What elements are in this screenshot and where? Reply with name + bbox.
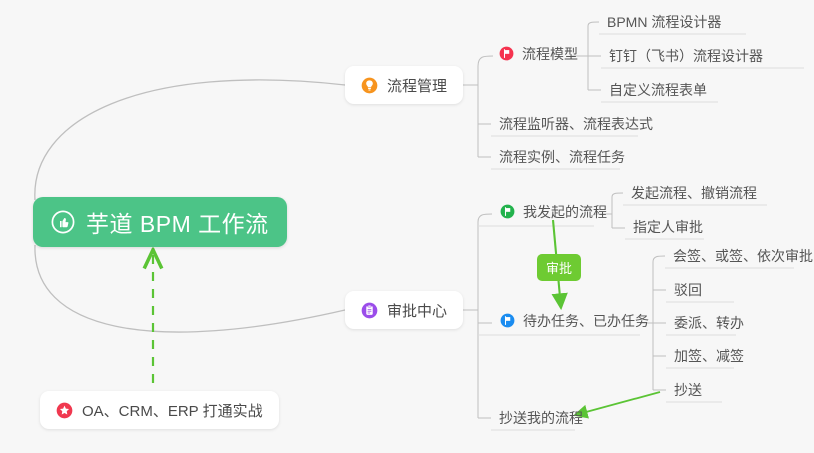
leaf-label-cc: 抄送 bbox=[674, 383, 702, 397]
leaf-node-countersign-orsign-sequential[interactable]: 会签、或签、依次审批 bbox=[665, 244, 814, 268]
leaf-label-cc-to-me-process: 抄送我的流程 bbox=[499, 411, 583, 425]
leaf-label-process-instance-task: 流程实例、流程任务 bbox=[499, 150, 625, 164]
leaf-label-countersign-orsign-sequential: 会签、或签、依次审批 bbox=[673, 249, 813, 263]
leaf-label-custom-process-form: 自定义流程表单 bbox=[609, 83, 707, 97]
leaf-node-reject[interactable]: 驳回 bbox=[666, 278, 710, 302]
flag-icon bbox=[500, 313, 515, 328]
leaf-label-assignee-approval: 指定人审批 bbox=[633, 220, 703, 234]
approval-tag-label: 审批 bbox=[546, 258, 572, 277]
leaf-node-cc[interactable]: 抄送 bbox=[666, 378, 710, 402]
integration-note-node[interactable]: OA、CRM、ERP 打通实战 bbox=[40, 391, 279, 429]
leaf-label-delegate-transfer: 委派、转办 bbox=[674, 316, 744, 330]
leaf-label-bpmn-designer: BPMN 流程设计器 bbox=[607, 15, 721, 29]
leaf-label-add-remove-sign: 加签、减签 bbox=[674, 349, 744, 363]
leaf-node-add-remove-sign[interactable]: 加签、减签 bbox=[666, 344, 752, 368]
clipboard-icon bbox=[361, 302, 378, 319]
root-node[interactable]: 芋道 BPM 工作流 bbox=[33, 197, 287, 247]
leaf-label-process-model: 流程模型 bbox=[522, 47, 578, 61]
leaf-node-delegate-transfer[interactable]: 委派、转办 bbox=[666, 311, 752, 335]
edge-model-to-bpmn bbox=[588, 22, 599, 26]
leaf-node-assignee-approval[interactable]: 指定人审批 bbox=[625, 215, 711, 239]
leaf-node-my-initiated-process[interactable]: 我发起的流程 bbox=[492, 200, 615, 224]
root-node-label: 芋道 BPM 工作流 bbox=[86, 205, 269, 239]
leaf-node-process-model[interactable]: 流程模型 bbox=[491, 42, 586, 66]
leaf-node-bpmn-designer[interactable]: BPMN 流程设计器 bbox=[599, 10, 729, 34]
leaf-label-todo-done-task: 待办任务、已办任务 bbox=[523, 314, 649, 328]
thumbs-up-icon bbox=[51, 210, 75, 234]
approval-tag[interactable]: 审批 bbox=[537, 254, 581, 281]
leaf-node-start-cancel-process[interactable]: 发起流程、撤销流程 bbox=[623, 181, 765, 205]
branch-node-approval-center[interactable]: 审批中心 bbox=[345, 291, 463, 329]
lightbulb-icon bbox=[361, 77, 378, 94]
leaf-node-cc-to-me-process[interactable]: 抄送我的流程 bbox=[491, 406, 591, 430]
leaf-node-todo-done-task[interactable]: 待办任务、已办任务 bbox=[492, 309, 657, 333]
branch-label-process-management: 流程管理 bbox=[387, 75, 447, 96]
star-icon bbox=[56, 402, 73, 419]
edge-root-to-process-management bbox=[35, 80, 345, 200]
edge-root-to-approval-center bbox=[35, 245, 345, 332]
branch-label-approval-center: 审批中心 bbox=[387, 300, 447, 321]
leaf-node-custom-process-form[interactable]: 自定义流程表单 bbox=[601, 78, 715, 102]
leaf-node-process-listener-expression[interactable]: 流程监听器、流程表达式 bbox=[491, 112, 661, 136]
edge-mi-to-start-cancel bbox=[612, 193, 623, 197]
edge-todo-to-countersign bbox=[653, 256, 665, 262]
leaf-node-dingtalk-feishu-designer[interactable]: 钉钉（飞书）流程设计器 bbox=[601, 44, 771, 68]
leaf-label-start-cancel-process: 发起流程、撤销流程 bbox=[631, 186, 757, 200]
edge-pm-spine bbox=[463, 66, 478, 157]
flag-icon bbox=[500, 204, 515, 219]
mindmap-canvas: 芋道 BPM 工作流 流程管理 审批中心 bbox=[0, 0, 814, 453]
leaf-label-reject: 驳回 bbox=[674, 283, 702, 297]
leaf-label-dingtalk-feishu-designer: 钉钉（飞书）流程设计器 bbox=[609, 49, 763, 63]
edge-ac-spine bbox=[463, 222, 478, 418]
integration-note-label: OA、CRM、ERP 打通实战 bbox=[82, 400, 263, 421]
edge-ac-to-my-initiated bbox=[478, 214, 492, 222]
leaf-node-process-instance-task[interactable]: 流程实例、流程任务 bbox=[491, 145, 633, 169]
flag-icon bbox=[499, 46, 514, 61]
branch-node-process-management[interactable]: 流程管理 bbox=[345, 66, 463, 104]
leaf-label-my-initiated-process: 我发起的流程 bbox=[523, 205, 607, 219]
leaf-label-process-listener-expression: 流程监听器、流程表达式 bbox=[499, 117, 653, 131]
